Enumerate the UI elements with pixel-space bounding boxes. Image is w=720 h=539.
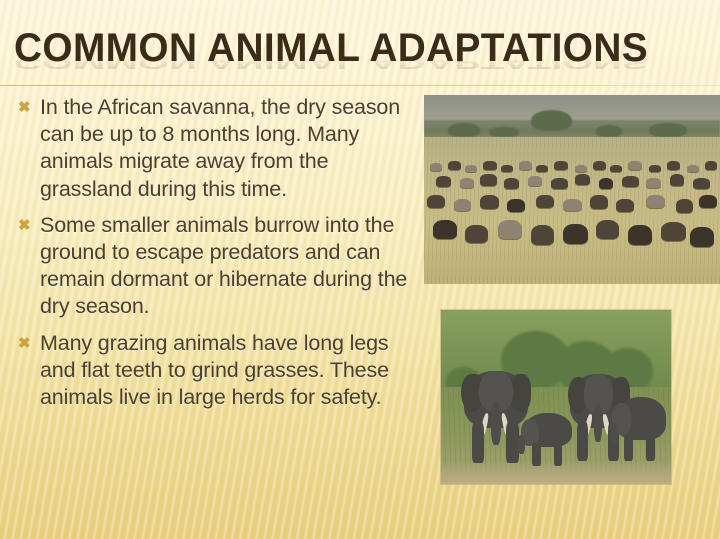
- herd-tree: [489, 127, 519, 136]
- wildebeest: [430, 163, 442, 171]
- elephant-trunk: [518, 435, 525, 455]
- wildebeest: [465, 165, 477, 173]
- bullet-text: Many grazing animals have long legs and …: [40, 330, 424, 412]
- elephant-trunk: [594, 404, 602, 442]
- title-divider: [0, 85, 720, 86]
- wildebeest: [498, 220, 522, 239]
- wildebeest: [554, 161, 567, 170]
- wildebeest: [705, 161, 717, 170]
- wildebeest: [628, 225, 652, 245]
- wildebeest: [590, 195, 608, 209]
- bullet-marker-x-icon: ✖: [12, 212, 40, 239]
- elephant-leg: [646, 435, 655, 461]
- wildebeest: [536, 165, 548, 173]
- elephant-trunk: [491, 402, 501, 444]
- bullet-text: Some smaller animals burrow into the gro…: [40, 212, 424, 321]
- bullet-text: In the African savanna, the dry season c…: [40, 94, 424, 203]
- wildebeest: [507, 199, 525, 212]
- herd-tree: [649, 123, 687, 136]
- elephant-calf-right: [616, 397, 667, 460]
- wildebeest: [454, 199, 472, 211]
- herd-tree: [448, 123, 481, 136]
- wildebeest: [460, 178, 475, 187]
- elephant-calf-front: [524, 413, 572, 465]
- elephant-family-photo: [441, 310, 671, 484]
- wildebeest: [551, 178, 567, 189]
- elephant-trunk: [611, 422, 618, 446]
- wildebeest: [575, 165, 587, 173]
- elephant-leg: [554, 443, 563, 466]
- wildebeest: [699, 195, 717, 208]
- wildebeest: [676, 199, 694, 213]
- bullet-list: ✖ In the African savanna, the dry season…: [12, 94, 424, 420]
- slide-title-area: Common Animal Adaptations Common Animal …: [0, 26, 720, 88]
- elephant-leg: [532, 443, 541, 466]
- wildebeest: [448, 161, 461, 170]
- wildebeest: [480, 174, 496, 185]
- wildebeest: [427, 195, 445, 208]
- wildebeest: [670, 174, 685, 185]
- wildebeest: [596, 220, 620, 239]
- list-item: ✖ In the African savanna, the dry season…: [12, 94, 424, 203]
- page-title: Common Animal Adaptations: [14, 26, 648, 70]
- wildebeest: [504, 178, 519, 188]
- wildebeest: [646, 178, 661, 187]
- list-item: ✖ Many grazing animals have long legs an…: [12, 330, 424, 412]
- wildebeest: [616, 199, 634, 212]
- wildebeest: [646, 195, 665, 208]
- wildebeest: [628, 161, 641, 170]
- wildebeest: [536, 195, 554, 208]
- herd-tree: [596, 125, 623, 136]
- wildebeest: [501, 165, 513, 173]
- list-item: ✖ Some smaller animals burrow into the g…: [12, 212, 424, 321]
- wildebeest: [531, 225, 555, 245]
- wildebeest: [693, 178, 709, 188]
- elephant-leg: [472, 422, 484, 463]
- wildebeest: [465, 225, 487, 243]
- elephant-leg: [577, 422, 588, 461]
- wildebeest: [661, 222, 686, 241]
- wildebeest: [622, 176, 638, 186]
- elephant-leg: [624, 435, 633, 461]
- bullet-marker-x-icon: ✖: [12, 94, 40, 121]
- wildebeest-herd-photo: [424, 95, 720, 284]
- wildebeest: [593, 161, 606, 170]
- wildebeest: [649, 165, 661, 173]
- wildebeest: [519, 161, 532, 170]
- wildebeest: [528, 176, 543, 185]
- slide: Common Animal Adaptations Common Animal …: [0, 0, 720, 539]
- wildebeest: [563, 199, 582, 211]
- wildebeest: [687, 165, 699, 173]
- wildebeest: [483, 161, 496, 170]
- wildebeest: [610, 165, 622, 173]
- wildebeest: [480, 195, 499, 209]
- elephant-leg: [506, 422, 518, 463]
- wildebeest: [690, 227, 714, 247]
- wildebeest: [433, 220, 457, 239]
- herd-tree: [531, 110, 572, 131]
- wildebeest: [575, 174, 590, 184]
- bullet-marker-x-icon: ✖: [12, 330, 40, 357]
- wildebeest: [599, 178, 614, 189]
- wildebeest: [667, 161, 680, 170]
- wildebeest: [436, 176, 451, 186]
- wildebeest: [563, 224, 588, 245]
